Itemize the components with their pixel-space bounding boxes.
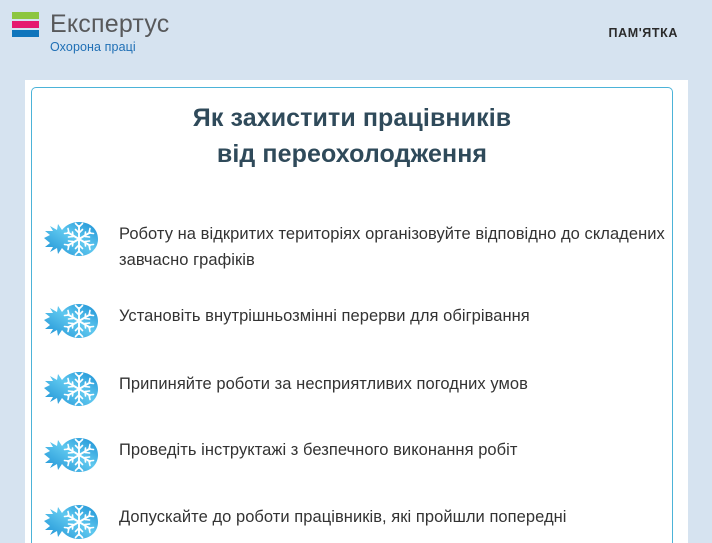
list-item-label: Установіть внутрішньозмінні перерви для … (119, 297, 673, 329)
list-item: Проведіть інструктажі з безпечного викон… (31, 431, 673, 476)
list-item: Допускайте до роботи працівників, які пр… (31, 498, 673, 543)
memo-label: ПАМ'ЯТКА (609, 26, 678, 40)
list-item-label: Роботу на відкритих територіях організов… (119, 215, 673, 273)
snowflake-splash-icon (41, 300, 103, 342)
logo-tagline: Охорона праці (50, 40, 169, 55)
list-item: Установіть внутрішньозмінні перерви для … (31, 297, 673, 342)
logo-text-block: Експертус Охорона праці (50, 11, 169, 55)
list-item: Роботу на відкритих територіях організов… (31, 215, 673, 273)
page-title-line-2: від переохолодження (31, 136, 673, 172)
list-item-label: Припиняйте роботи за несприятливих погод… (119, 365, 673, 397)
page-header: Експертус Охорона праці ПАМ'ЯТКА (0, 0, 712, 80)
list-item: Припиняйте роботи за несприятливих погод… (31, 365, 673, 410)
logo-bar-pink (12, 21, 39, 28)
list-item-label: Допускайте до роботи працівників, які пр… (119, 498, 673, 530)
snowflake-splash-icon (41, 218, 103, 260)
snowflake-splash-icon (41, 434, 103, 476)
logo-bars-icon (12, 12, 39, 37)
page-title: Як захистити працівників від переохолодж… (31, 100, 673, 172)
page-title-line-1: Як захистити працівників (31, 100, 673, 136)
snowflake-splash-icon (41, 501, 103, 543)
logo-bar-green (12, 12, 39, 19)
logo-bar-blue (12, 30, 39, 37)
snowflake-splash-icon (41, 368, 103, 410)
recommendation-list: Роботу на відкритих територіях організов… (31, 215, 673, 543)
logo-brand-name: Експертус (50, 11, 169, 37)
brand-logo[interactable]: Експертус Охорона праці (12, 11, 169, 55)
list-item-label: Проведіть інструктажі з безпечного викон… (119, 431, 673, 463)
